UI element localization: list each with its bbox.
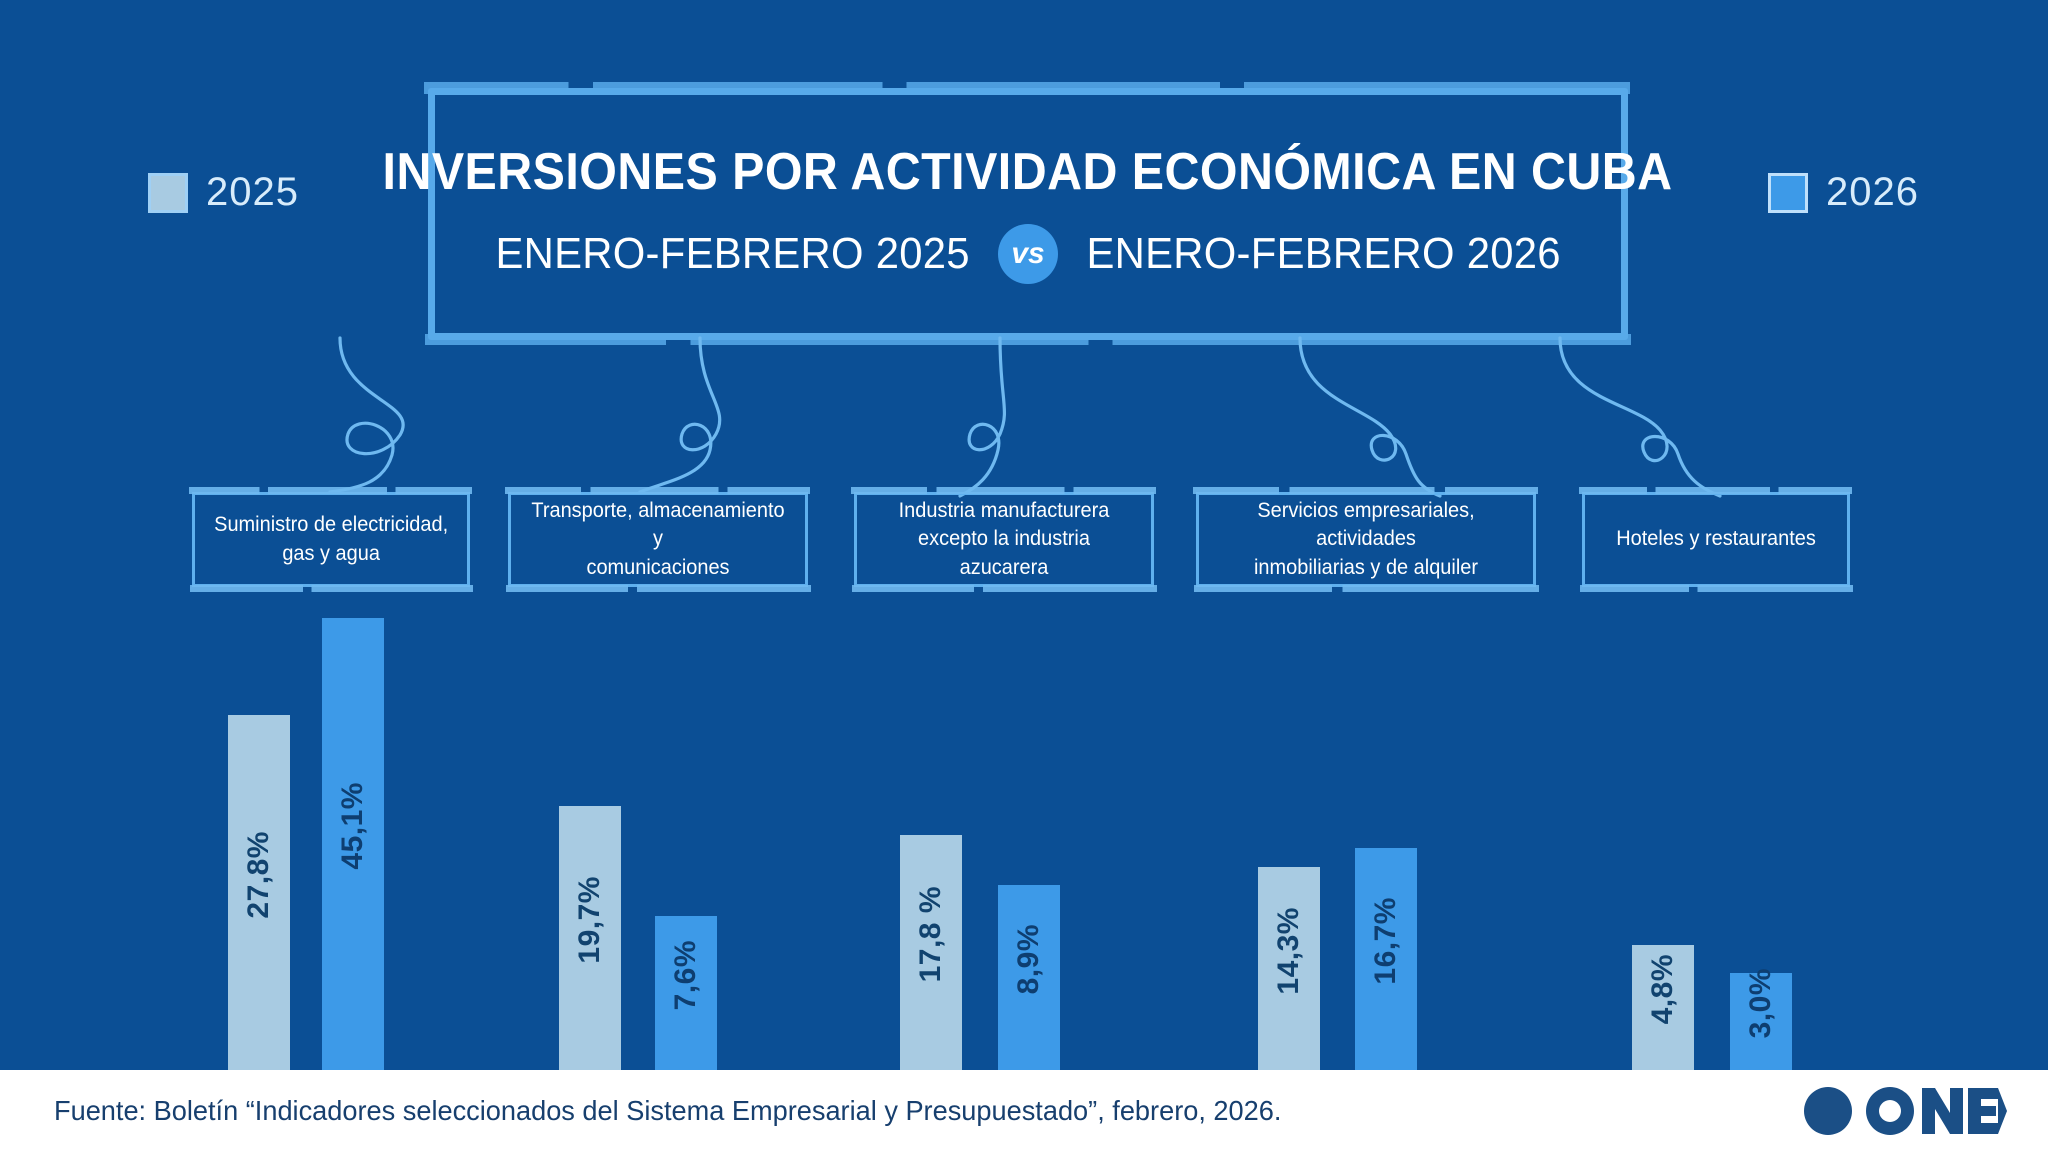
- bar-2025-4: 4,8%: [1632, 945, 1694, 1070]
- infographic-canvas: 2025 2026 INVERSIONES POR ACTIVIDAD ECON…: [0, 0, 2048, 1152]
- connector-curl-5: [1560, 338, 1720, 496]
- category-box-2: Industria manufactureraexcepto la indust…: [854, 492, 1154, 587]
- category-box-3: Servicios empresariales, actividadesinmo…: [1196, 492, 1536, 587]
- bar-2026-3: 16,7%: [1355, 848, 1417, 1070]
- category-label-4: Hoteles y restaurantes: [1616, 525, 1816, 553]
- bar-2025-1: 19,7%: [559, 806, 621, 1070]
- bar-2025-2: 17,8 %: [900, 835, 962, 1070]
- bar-2026-2: 8,9%: [998, 885, 1060, 1070]
- legend-label-2026: 2026: [1826, 170, 1919, 215]
- legend-swatch-2026-icon: [1768, 173, 1808, 213]
- onei-logo: [1798, 1083, 2008, 1139]
- category-label-2: Industria manufactureraexcepto la indust…: [876, 497, 1133, 582]
- bar-value-2026-2: 8,9%: [1012, 924, 1046, 994]
- bar-2026-1: 7,6%: [655, 916, 717, 1070]
- legend-swatch-2025-icon: [148, 173, 188, 213]
- bar-value-2026-3: 16,7%: [1369, 897, 1403, 985]
- bar-value-2026-1: 7,6%: [669, 940, 703, 1010]
- bar-value-2026-4: 3,0%: [1744, 968, 1778, 1038]
- category-box-1: Transporte, almacenamiento ycomunicacion…: [508, 492, 808, 587]
- bar-group-1: 19,7% 7,6%: [559, 806, 717, 1070]
- bar-2025-3: 14,3%: [1258, 867, 1320, 1070]
- legend-label-2025: 2025: [206, 170, 299, 215]
- bar-value-2025-2: 17,8 %: [914, 886, 948, 982]
- bar-2026-4: 3,0%: [1730, 973, 1792, 1070]
- bar-2026-0: 45,1%: [322, 618, 384, 1070]
- bar-group-2: 17,8 % 8,9%: [900, 835, 1060, 1070]
- footer-bar: Fuente: Boletín “Indicadores seleccionad…: [0, 1070, 2048, 1152]
- connector-curl-3: [960, 338, 1004, 496]
- bar-group-3: 14,3% 16,7%: [1258, 848, 1417, 1070]
- bar-group-4: 4,8% 3,0%: [1632, 945, 1792, 1070]
- bar-chart: 27,8% 45,1% 19,7% 7,6% 17,8 % 8,9%: [0, 600, 2048, 1070]
- connector-lines: [0, 330, 2048, 505]
- page-title: INVERSIONES POR ACTIVIDAD ECONÓMICA EN C…: [383, 144, 1673, 201]
- connector-curl-1: [330, 338, 403, 492]
- bar-value-2025-1: 19,7%: [573, 876, 607, 964]
- bar-group-0: 27,8% 45,1%: [228, 618, 384, 1070]
- source-note: Fuente: Boletín “Indicadores seleccionad…: [54, 1095, 1281, 1127]
- category-label-3: Servicios empresariales, actividadesinmo…: [1219, 497, 1514, 582]
- bar-value-2025-4: 4,8%: [1646, 954, 1680, 1024]
- subtitle-period-left: ENERO-FEBRERO 2025: [495, 229, 969, 279]
- subtitle-row: ENERO-FEBRERO 2025 vs ENERO-FEBRERO 2026: [483, 224, 1574, 284]
- subtitle-period-right: ENERO-FEBRERO 2026: [1086, 229, 1560, 279]
- bar-value-2025-0: 27,8%: [242, 831, 276, 919]
- bar-2025-0: 27,8%: [228, 715, 290, 1070]
- legend-item-2025: 2025: [148, 170, 299, 215]
- bar-value-2026-0: 45,1%: [336, 782, 370, 870]
- title-banner: INVERSIONES POR ACTIVIDAD ECONÓMICA EN C…: [428, 88, 1628, 340]
- onei-logo-icon: [1798, 1083, 2008, 1139]
- legend-item-2026: 2026: [1768, 170, 1919, 215]
- category-label-0: Suministro de electricidad,gas y agua: [214, 511, 448, 568]
- category-box-4: Hoteles y restaurantes: [1582, 492, 1850, 587]
- bar-value-2025-3: 14,3%: [1272, 907, 1306, 995]
- connector-curl-2: [640, 338, 720, 492]
- category-box-0: Suministro de electricidad,gas y agua: [192, 492, 470, 587]
- vs-badge: vs: [998, 224, 1058, 284]
- category-label-1: Transporte, almacenamiento ycomunicacion…: [530, 497, 787, 582]
- connector-curl-4: [1300, 338, 1440, 496]
